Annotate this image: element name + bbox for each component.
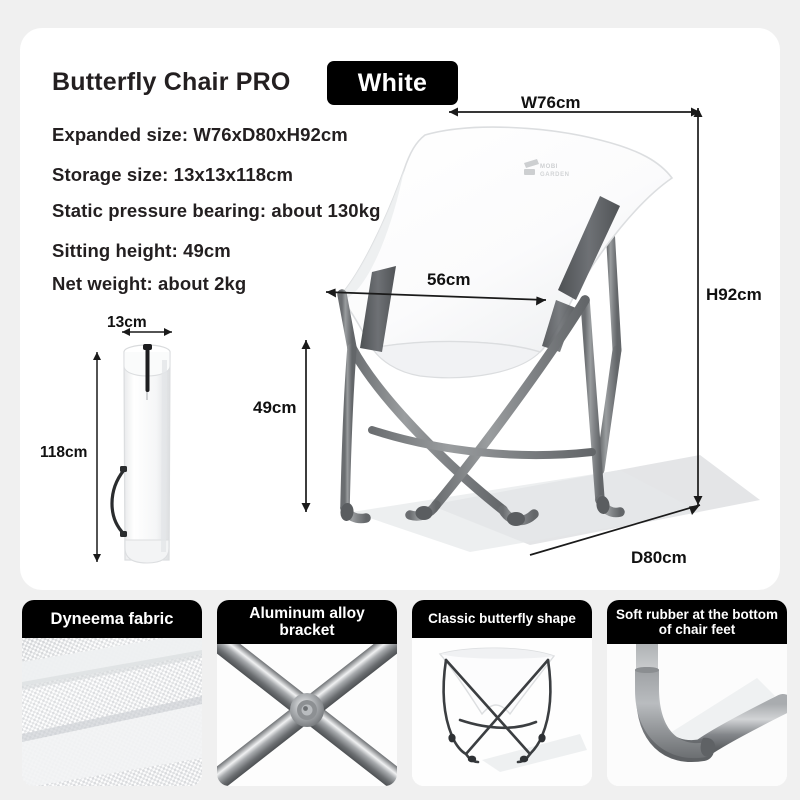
spec-expanded-size: Expanded size: W76xD80xH92cm — [52, 124, 348, 146]
butterfly-chair-front-view-image — [412, 638, 592, 786]
dimension-label-bag-width: 13cm — [107, 314, 147, 332]
dimension-label-seat-width: 56cm — [427, 270, 470, 290]
spec-net-weight: Net weight: about 2kg — [52, 273, 246, 295]
dimension-label-bag-length: 118cm — [40, 444, 87, 462]
spec-sitting-height: Sitting height: 49cm — [52, 240, 231, 262]
storage-bag-illustration — [112, 344, 170, 563]
dimension-label-width: W76cm — [521, 93, 581, 113]
brand-logo-line2: GARDEN — [540, 172, 570, 178]
spec-pressure-bearing: Static pressure bearing: about 130kg — [52, 200, 380, 222]
crossed-tubes-rivet-image — [217, 644, 397, 786]
feature-card-label: Classic butterfly shape — [412, 600, 592, 638]
dimension-label-sitting-height: 49cm — [253, 398, 296, 418]
spec-storage-size: Storage size: 13x13x118cm — [52, 164, 293, 186]
page-title: Butterfly Chair PRO — [52, 68, 291, 97]
feature-card-dyneema-fabric: Dyneema fabric — [22, 600, 202, 786]
color-badge: White — [327, 61, 458, 105]
feature-card-label: Aluminum alloy bracket — [217, 600, 397, 644]
dimension-label-depth: D80cm — [631, 548, 687, 568]
fabric-weave-closeup-image — [22, 638, 202, 786]
feature-card-aluminum-bracket: Aluminum alloy bracket — [217, 600, 397, 786]
brand-logo-line1: MOBI — [540, 164, 558, 170]
feature-card-label: Soft rubber at the bottom of chair feet — [607, 600, 787, 644]
color-badge-label: White — [358, 69, 428, 98]
feature-card-rubber-foot: Soft rubber at the bottom of chair feet — [607, 600, 787, 786]
feature-card-butterfly-shape: Classic butterfly shape — [412, 600, 592, 786]
rubber-foot-closeup-image — [607, 644, 787, 786]
chair-fabric-sling — [340, 127, 672, 378]
dimension-label-height: H92cm — [706, 285, 762, 305]
infographic-canvas: MOBI GARDEN — [0, 0, 800, 800]
feature-card-label: Dyneema fabric — [22, 600, 202, 638]
